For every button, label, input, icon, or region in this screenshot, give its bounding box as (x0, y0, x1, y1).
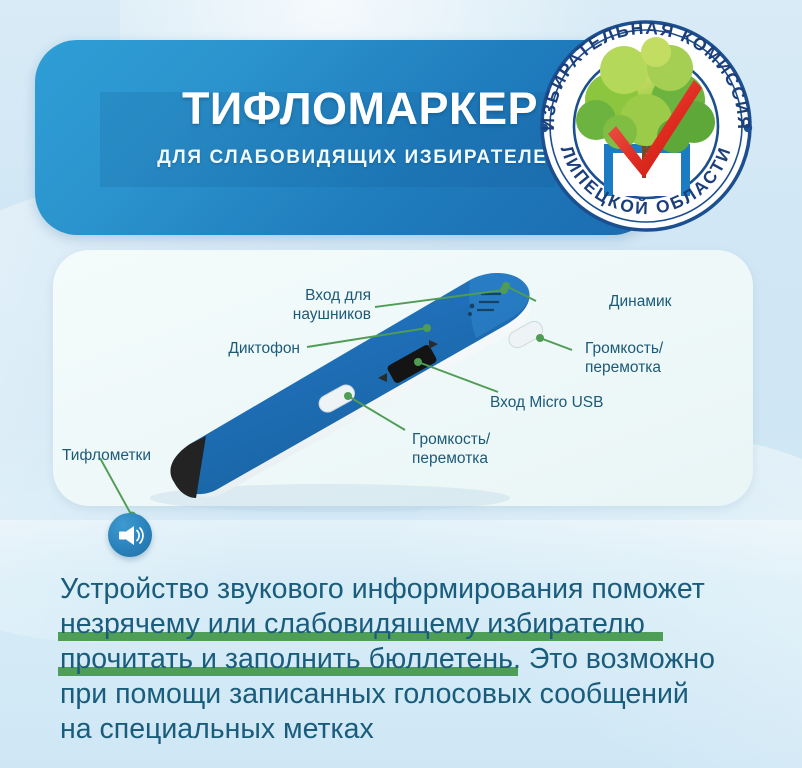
paragraph-line-5: на специальных метках (60, 712, 750, 747)
paragraph-line-1: Устройство звукового информирования помо… (60, 572, 750, 607)
infographic-poster: ТИФЛОМАРКЕР ДЛЯ СЛАБОВИДЯЩИХ ИЗБИРАТЕЛЕЙ (0, 0, 802, 768)
paragraph-line-4: при помощи записанных голосовых сообщени… (60, 677, 750, 712)
callout-voice-recorder: Диктофон (160, 340, 300, 359)
election-commission-seal: ИЗБИРАТЕЛЬНАЯ КОМИССИЯ ЛИПЕЦКОЙ ОБЛАСТИ (524, 8, 768, 232)
callout-speaker: Динамик (609, 293, 759, 312)
description-paragraph: Устройство звукового информирования помо… (60, 572, 750, 747)
callout-micro-usb: Вход Micro USB (490, 394, 670, 413)
callout-volume-rewind-right: Громкость/ перемотка (585, 340, 745, 378)
callout-volume-rewind-left: Громкость/ перемотка (412, 431, 562, 469)
device-diagram-card (53, 250, 753, 506)
speaker-icon (119, 526, 134, 545)
callout-tiflo-marks: Тифлометки (62, 447, 212, 466)
paragraph-line-2: незрячему или слабовидящему избирателю (60, 607, 750, 642)
callout-headphone-jack: Вход для наушников (226, 287, 371, 325)
tiflo-mark-speaker-badge (108, 513, 152, 557)
paragraph-line-3: прочитать и заполнить бюллетень. Это воз… (60, 642, 750, 677)
